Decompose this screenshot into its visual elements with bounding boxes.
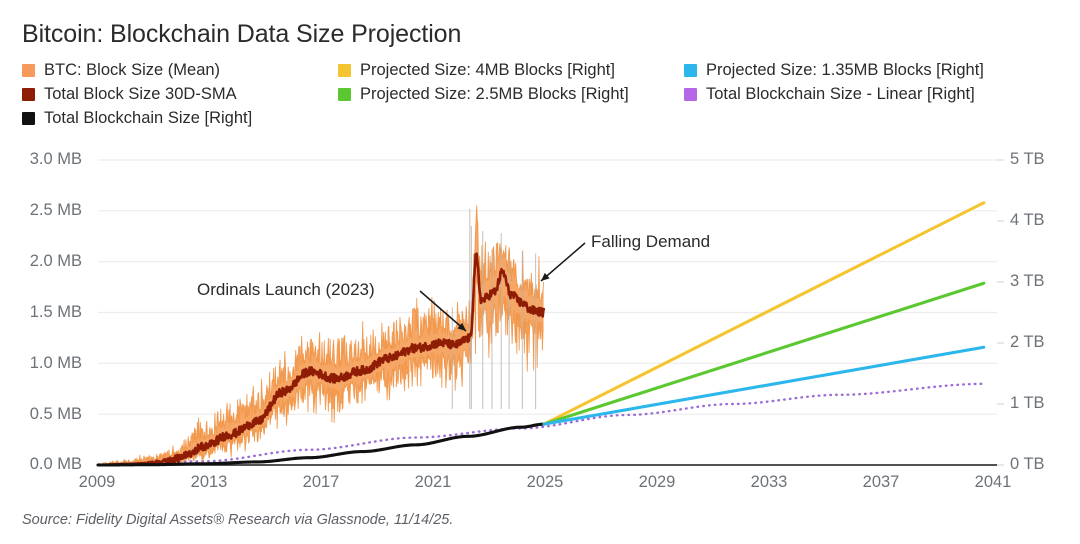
- legend-item-total-blockchain-size[interactable]: Total Blockchain Size [Right]: [22, 106, 252, 130]
- x-axis-tick: 2021: [393, 473, 473, 492]
- y-axis-tick-left: 3.0 MB: [8, 150, 82, 169]
- legend-item-btc-block-size-mean[interactable]: BTC: Block Size (Mean): [22, 58, 252, 82]
- legend-item-label: Projected Size: 1.35MB Blocks [Right]: [706, 62, 984, 79]
- y-axis-tick-left: 2.5 MB: [8, 201, 82, 220]
- legend-column-3: Projected Size: 1.35MB Blocks [Right] To…: [684, 58, 984, 106]
- series-band-btc-block-size-mean: [98, 205, 544, 465]
- x-axis-tick: 2029: [617, 473, 697, 492]
- legend-item-label: Projected Size: 4MB Blocks [Right]: [360, 62, 615, 79]
- x-axis-tick: 2037: [841, 473, 921, 492]
- annotation-ordinals-launch: Ordinals Launch (2023): [197, 280, 375, 300]
- legend-item-label: Total Block Size 30D-SMA: [44, 86, 237, 103]
- legend-item-projected-4mb[interactable]: Projected Size: 4MB Blocks [Right]: [338, 58, 629, 82]
- annotation-falling-demand: Falling Demand: [591, 232, 710, 252]
- chart-container: Bitcoin: Blockchain Data Size Projection…: [0, 0, 1080, 544]
- y-axis-tick-left: 2.0 MB: [8, 252, 82, 271]
- series-line-btc-block-size-mean-high: [98, 205, 544, 464]
- series-line-projected-25mb: [544, 283, 984, 424]
- legend-item-label: Total Blockchain Size [Right]: [44, 110, 252, 127]
- y-axis-tick-left: 0.0 MB: [8, 455, 82, 474]
- legend-swatch-icon: [22, 112, 35, 125]
- legend-item-projected-25mb[interactable]: Projected Size: 2.5MB Blocks [Right]: [338, 82, 629, 106]
- annotation-arrow-falling-demand-head: [541, 273, 550, 281]
- series-line-total-blockchain-size: [98, 424, 544, 465]
- legend-column-2: Projected Size: 4MB Blocks [Right] Proje…: [338, 58, 629, 106]
- legend-item-label: Total Blockchain Size - Linear [Right]: [706, 86, 975, 103]
- legend-swatch-icon: [22, 88, 35, 101]
- legend-swatch-icon: [684, 64, 697, 77]
- legend-swatch-icon: [22, 64, 35, 77]
- legend-swatch-icon: [684, 88, 697, 101]
- x-axis-tick: 2041: [953, 473, 1033, 492]
- legend-item-label: BTC: Block Size (Mean): [44, 62, 220, 79]
- y-axis-tick-right: 3 TB: [1010, 272, 1076, 291]
- x-axis-tick: 2033: [729, 473, 809, 492]
- annotation-arrow-falling-demand: [541, 243, 585, 281]
- legend-item-total-block-size-30d-sma[interactable]: Total Block Size 30D-SMA: [22, 82, 252, 106]
- legend-column-1: BTC: Block Size (Mean) Total Block Size …: [22, 58, 252, 130]
- x-axis-tick: 2025: [505, 473, 585, 492]
- legend-item-label: Projected Size: 2.5MB Blocks [Right]: [360, 86, 629, 103]
- y-axis-tick-right: 4 TB: [1010, 211, 1076, 230]
- y-axis-tick-right: 5 TB: [1010, 150, 1076, 169]
- y-axis-tick-right: 1 TB: [1010, 394, 1076, 413]
- y-axis-tick-right: 2 TB: [1010, 333, 1076, 352]
- legend-swatch-icon: [338, 64, 351, 77]
- source-note: Source: Fidelity Digital Assets® Researc…: [22, 512, 453, 528]
- legend-swatch-icon: [338, 88, 351, 101]
- series-line-total-blockchain-size-linear: [98, 384, 983, 465]
- page-title: Bitcoin: Blockchain Data Size Projection: [22, 20, 461, 49]
- y-axis-tick-left: 0.5 MB: [8, 405, 82, 424]
- series-line-projected-135mb: [544, 347, 984, 424]
- legend-item-total-blockchain-size-linear[interactable]: Total Blockchain Size - Linear [Right]: [684, 82, 984, 106]
- series-line-btc-block-size-mean-low: [98, 273, 544, 465]
- x-axis-tick: 2009: [57, 473, 137, 492]
- x-axis-tick: 2017: [281, 473, 361, 492]
- x-axis-tick: 2013: [169, 473, 249, 492]
- y-axis-tick-left: 1.5 MB: [8, 303, 82, 322]
- y-axis-tick-left: 1.0 MB: [8, 354, 82, 373]
- annotation-arrow-ordinals-launch-head: [457, 323, 466, 331]
- legend-item-projected-135mb[interactable]: Projected Size: 1.35MB Blocks [Right]: [684, 58, 984, 82]
- annotation-arrow-ordinals-launch: [420, 291, 466, 331]
- y-axis-tick-right: 0 TB: [1010, 455, 1076, 474]
